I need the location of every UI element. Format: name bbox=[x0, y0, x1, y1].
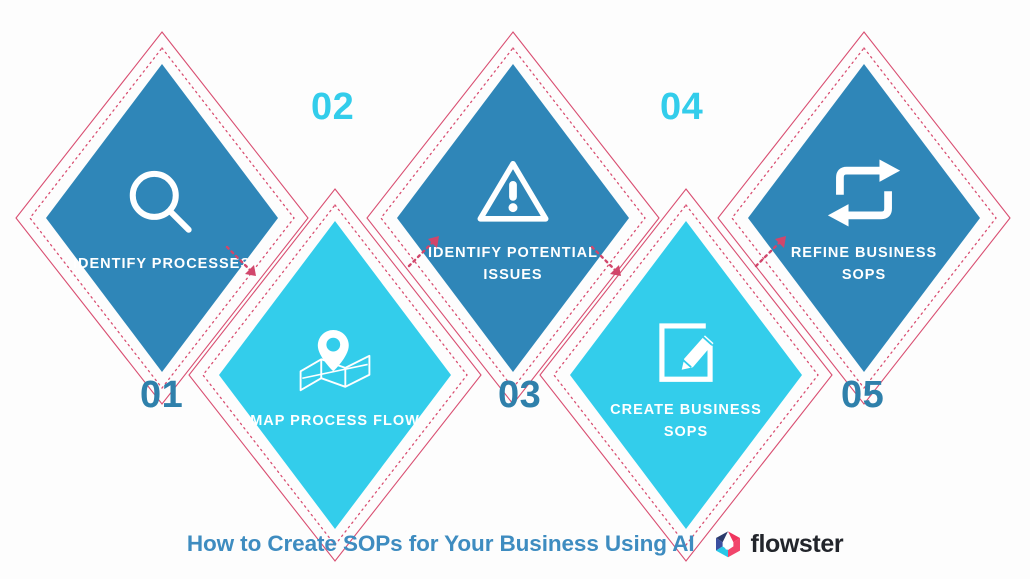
step-number-03: 03 bbox=[498, 376, 541, 414]
step-number-01: 01 bbox=[140, 376, 183, 414]
connector-2-to-3 bbox=[405, 230, 451, 276]
footer-bar: How to Create SOPs for Your Business Usi… bbox=[0, 521, 1030, 567]
diamond-fill bbox=[714, 28, 1014, 408]
connector-3-to-4 bbox=[588, 243, 634, 289]
step-number-04: 04 bbox=[660, 88, 703, 126]
flowster-logo-icon bbox=[713, 529, 743, 559]
connector-1-to-2 bbox=[223, 243, 269, 289]
brand-lockup[interactable]: flowster bbox=[713, 529, 844, 559]
connector-4-to-5 bbox=[752, 230, 798, 276]
page-title: How to Create SOPs for Your Business Usi… bbox=[187, 531, 695, 557]
step-node-5[interactable]: REFINE BUSINESS SOPS bbox=[714, 28, 1014, 408]
step-number-02: 02 bbox=[311, 88, 354, 126]
infographic-canvas: IDENTIFY PROCESSES bbox=[0, 0, 1030, 579]
step-number-05: 05 bbox=[841, 376, 884, 414]
brand-name: flowster bbox=[751, 530, 844, 559]
